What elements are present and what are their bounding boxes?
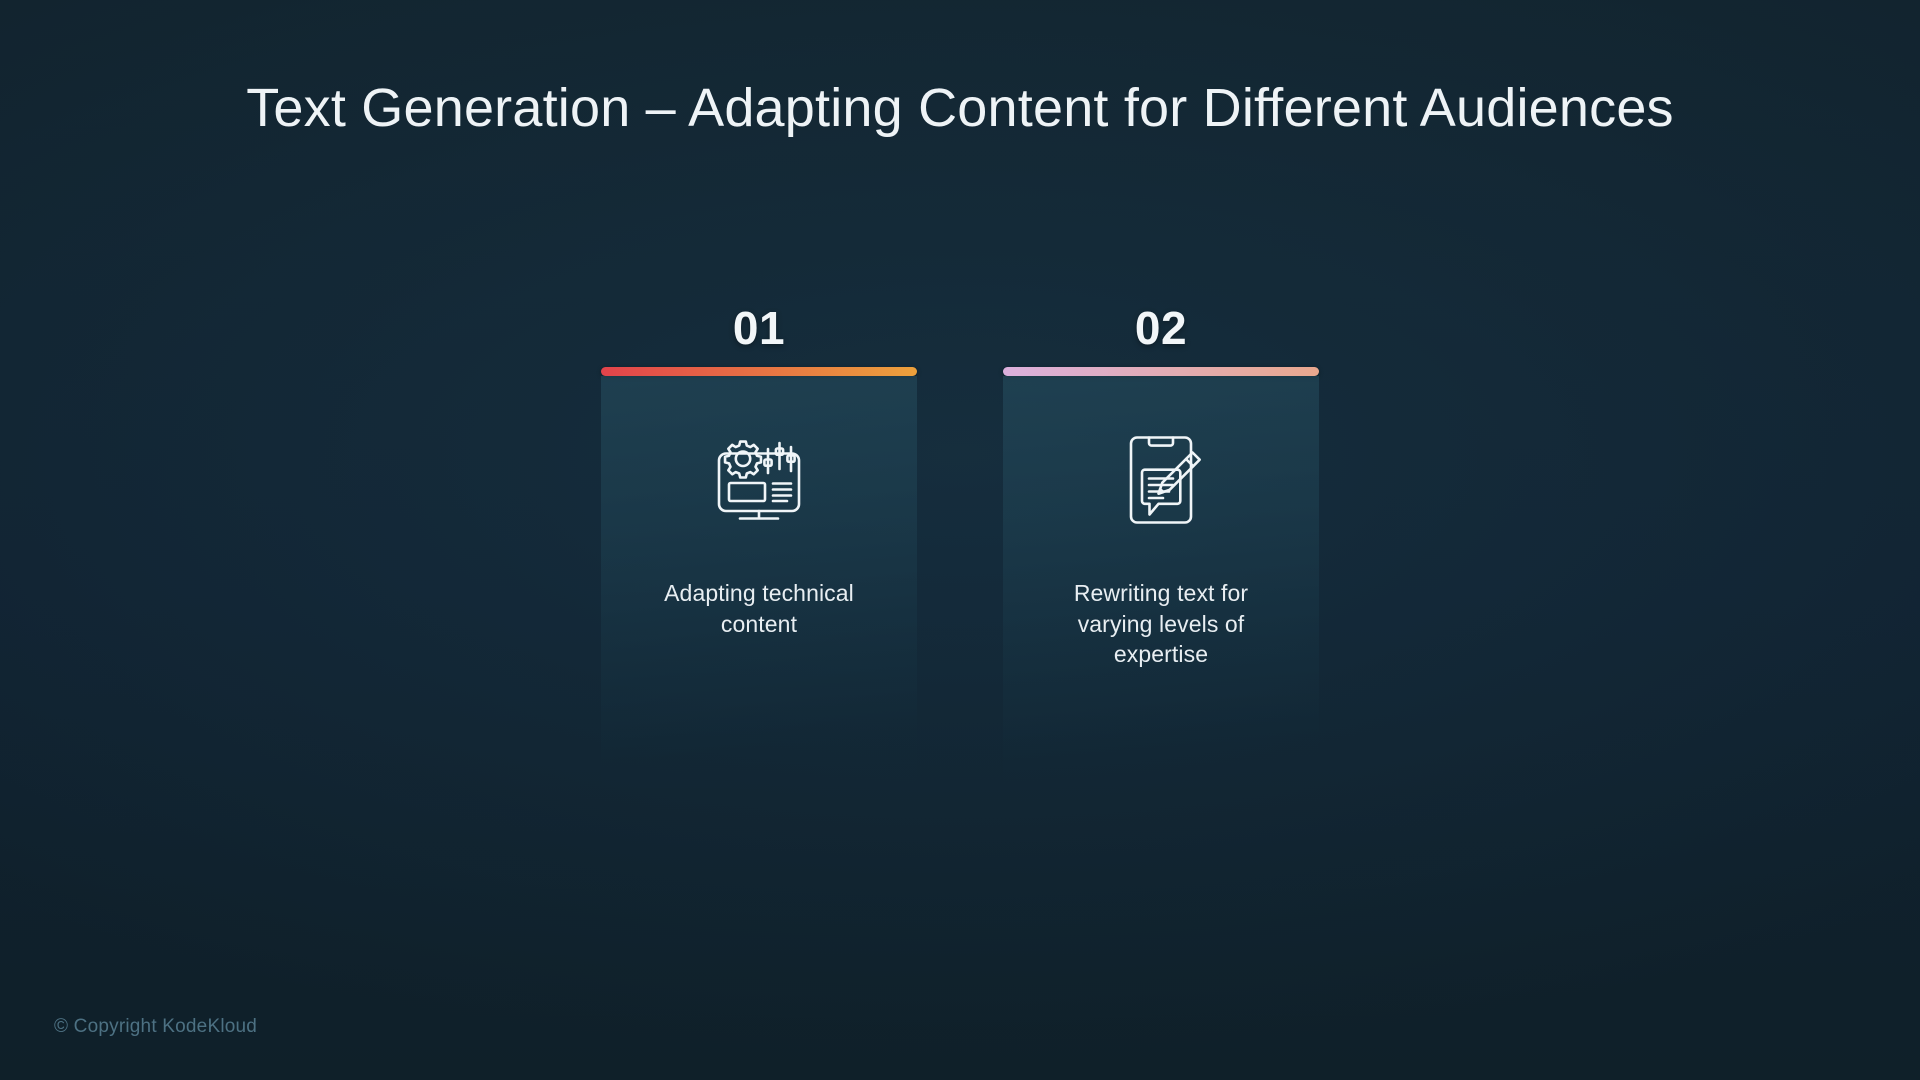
tablet-pencil-edit-icon xyxy=(1109,428,1213,532)
card-body-02: Rewriting text for varying levels of exp… xyxy=(1003,376,1319,788)
card-group: 01 xyxy=(601,305,1319,788)
card-accent-bar-01 xyxy=(601,367,917,376)
card-body-01: Adapting technical content xyxy=(601,376,917,788)
card-accent-bar-02 xyxy=(1003,367,1319,376)
footer-copyright: © Copyright KodeKloud xyxy=(54,1016,257,1038)
card-number-02: 02 xyxy=(1135,305,1187,351)
monitor-gear-sliders-icon xyxy=(707,428,811,532)
card-text-02: Rewriting text for varying levels of exp… xyxy=(1045,578,1277,670)
card-text-01: Adapting technical content xyxy=(643,578,875,639)
card-01[interactable]: 01 xyxy=(601,305,917,788)
card-02[interactable]: 02 xyxy=(1003,305,1319,788)
page-title: Text Generation – Adapting Content for D… xyxy=(0,78,1920,138)
card-number-01: 01 xyxy=(733,305,785,351)
